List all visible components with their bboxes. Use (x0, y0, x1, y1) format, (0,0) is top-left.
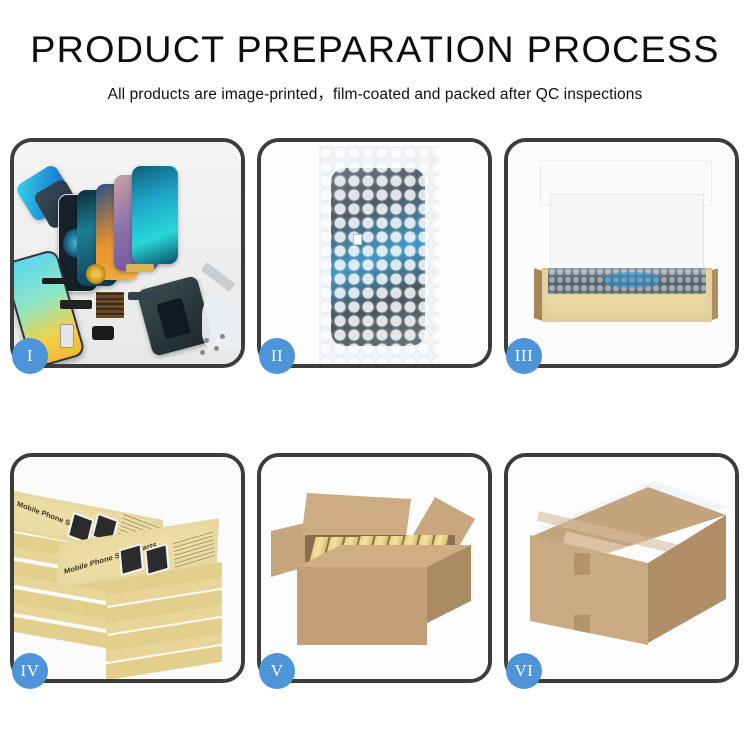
process-step-panel-1: I (10, 138, 245, 368)
product-preparation-infographic: PRODUCT PREPARATION PROCESS All products… (0, 0, 750, 750)
step-2-image (261, 142, 488, 364)
page-subtitle: All products are image-printed，film-coat… (0, 82, 750, 104)
step-badge-3: III (506, 338, 542, 374)
screw-icon-3 (200, 350, 205, 355)
speaker-coil-icon (86, 264, 106, 284)
product-tag-icon (353, 234, 362, 245)
carton-front-face (297, 567, 427, 645)
battery-icon (60, 324, 74, 348)
foam-sheet (550, 194, 704, 274)
step-badge-4: IV (12, 653, 48, 689)
chip-grid-icon (96, 292, 124, 318)
flex-cable-icon-1 (60, 300, 92, 309)
process-step-grid: I II (10, 138, 740, 683)
step-badge-2: II (259, 338, 295, 374)
process-step-panel-5: V (257, 453, 492, 683)
step-3-image (508, 142, 735, 364)
step-4-image: Mobile Phone Spare Parts Mobile Phone Sp… (14, 457, 241, 679)
bubble-wrap-layer (319, 146, 439, 364)
process-step-panel-2: II (257, 138, 492, 368)
screw-icon-2 (214, 346, 219, 351)
screw-icon-4 (220, 334, 225, 339)
header: PRODUCT PREPARATION PROCESS All products… (0, 0, 750, 104)
process-step-panel-3: III (504, 138, 739, 368)
flex-cable-icon-2 (126, 264, 154, 272)
box-checklist-front (173, 529, 215, 568)
step-badge-1: I (12, 338, 48, 374)
step-6-image (508, 457, 735, 679)
process-step-panel-4: Mobile Phone Spare Parts Mobile Phone Sp… (10, 453, 245, 683)
carton-handle-tab-1 (574, 553, 590, 575)
page-title: PRODUCT PREPARATION PROCESS (0, 30, 750, 71)
earpiece-mesh-icon (42, 278, 72, 284)
phone-display-4 (132, 166, 178, 264)
blue-label-highlight (604, 272, 660, 288)
loudspeaker-icon (92, 326, 114, 340)
process-step-panel-6: VI (504, 453, 739, 683)
step-badge-5: V (259, 653, 295, 689)
screw-icon-1 (204, 338, 209, 343)
retail-box-stack: Mobile Phone Spare Parts Mobile Phone Sp… (14, 479, 241, 675)
step-badge-6: VI (506, 653, 542, 689)
flex-cable-icon-3 (128, 292, 158, 300)
step-5-image (261, 457, 488, 679)
box-window-front-1 (119, 543, 144, 576)
step-1-image (14, 142, 241, 364)
